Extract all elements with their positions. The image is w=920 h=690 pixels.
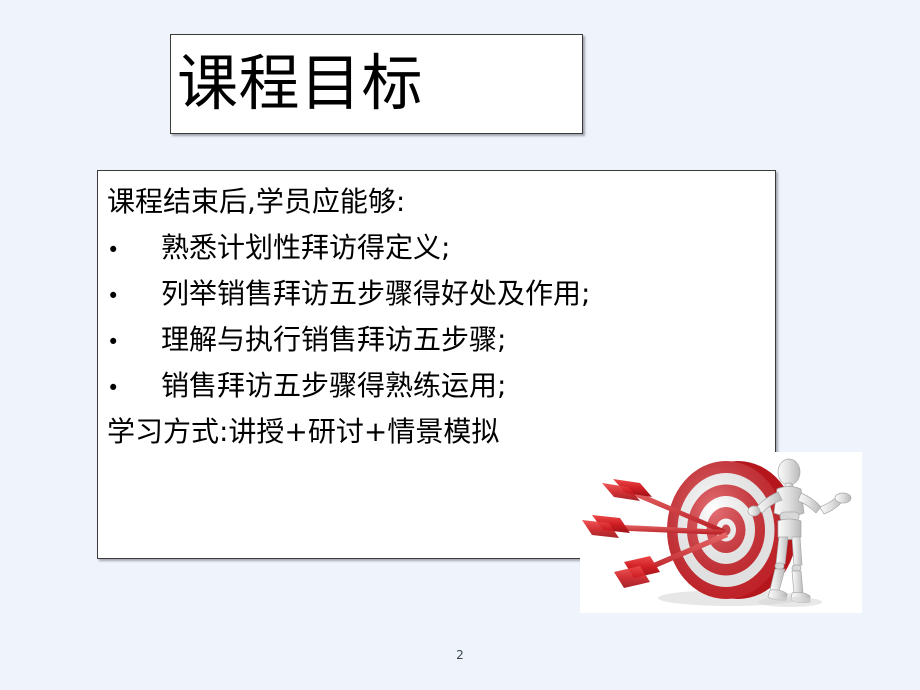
- bullet-icon: •: [107, 365, 161, 411]
- line-text: 课程结束后,学员应能够:: [107, 179, 405, 225]
- bullet-icon: •: [107, 273, 161, 319]
- bullet-icon: •: [107, 227, 161, 273]
- list-item: 学习方式:讲授+研讨+情景模拟: [98, 409, 775, 455]
- slide-canvas: 课程目标 课程结束后,学员应能够: • 熟悉计划性拜访得定义; • 列举销售拜访…: [0, 0, 920, 690]
- list-item: • 熟悉计划性拜访得定义;: [98, 225, 775, 271]
- line-text: 列举销售拜访五步骤得好处及作用;: [161, 271, 590, 317]
- list-item: • 列举销售拜访五步骤得好处及作用;: [98, 271, 775, 317]
- line-text: 理解与执行销售拜访五步骤;: [161, 317, 506, 363]
- target-with-mannequin-image: [580, 452, 862, 613]
- page-title: 课程目标: [177, 41, 423, 127]
- list-item: • 销售拜访五步骤得熟练运用;: [98, 363, 775, 409]
- list-item: • 理解与执行销售拜访五步骤;: [98, 317, 775, 363]
- title-box: 课程目标: [170, 34, 583, 134]
- list-item: 课程结束后,学员应能够:: [98, 179, 775, 225]
- content-line-list: 课程结束后,学员应能够: • 熟悉计划性拜访得定义; • 列举销售拜访五步骤得好…: [98, 179, 775, 455]
- line-text: 销售拜访五步骤得熟练运用;: [161, 363, 506, 409]
- line-text: 熟悉计划性拜访得定义;: [161, 225, 450, 271]
- page-number: 2: [0, 648, 920, 662]
- bullet-icon: •: [107, 319, 161, 365]
- line-text: 学习方式:讲授+研讨+情景模拟: [107, 409, 499, 455]
